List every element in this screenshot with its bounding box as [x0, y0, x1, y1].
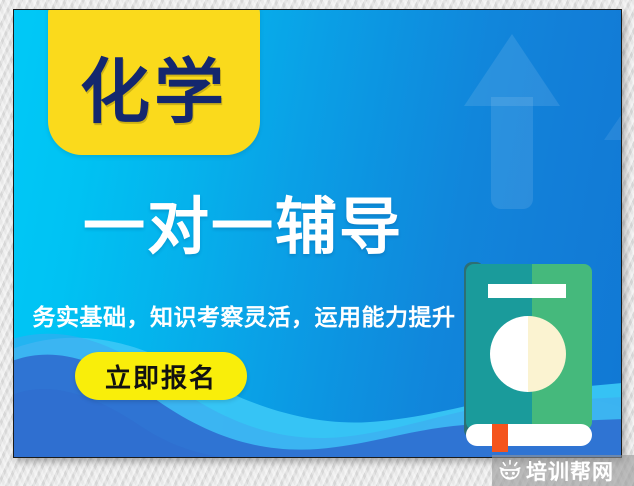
promo-banner[interactable]: 化学 一对一辅导 务实基础，知识考察灵活，运用能力提升 立即报名	[13, 9, 622, 458]
sun-face-icon	[498, 459, 522, 483]
arrow-up-icon-secondary	[604, 70, 622, 245]
arrow-up-icon	[464, 34, 560, 209]
book-bookmark-icon	[492, 424, 508, 452]
book-icon	[462, 256, 602, 452]
book-pages	[466, 424, 592, 446]
subject-badge-label: 化学	[80, 57, 228, 155]
watermark-label: 培训帮网	[526, 456, 614, 486]
subject-badge: 化学	[48, 9, 260, 155]
arrow-up-shaft	[491, 97, 533, 209]
book-title-band	[488, 284, 566, 298]
watermark: 培训帮网	[492, 455, 634, 486]
page-background: 化学 一对一辅导 务实基础，知识考察灵活，运用能力提升 立即报名	[0, 0, 634, 486]
arrow-up-head	[604, 70, 622, 140]
arrow-up-head	[464, 34, 560, 106]
enroll-now-label: 立即报名	[105, 358, 217, 395]
banner-headline: 一对一辅导	[28, 194, 458, 259]
enroll-now-button[interactable]: 立即报名	[75, 352, 247, 400]
banner-subtitle: 务实基础，知识考察灵活，运用能力提升	[22, 298, 466, 332]
